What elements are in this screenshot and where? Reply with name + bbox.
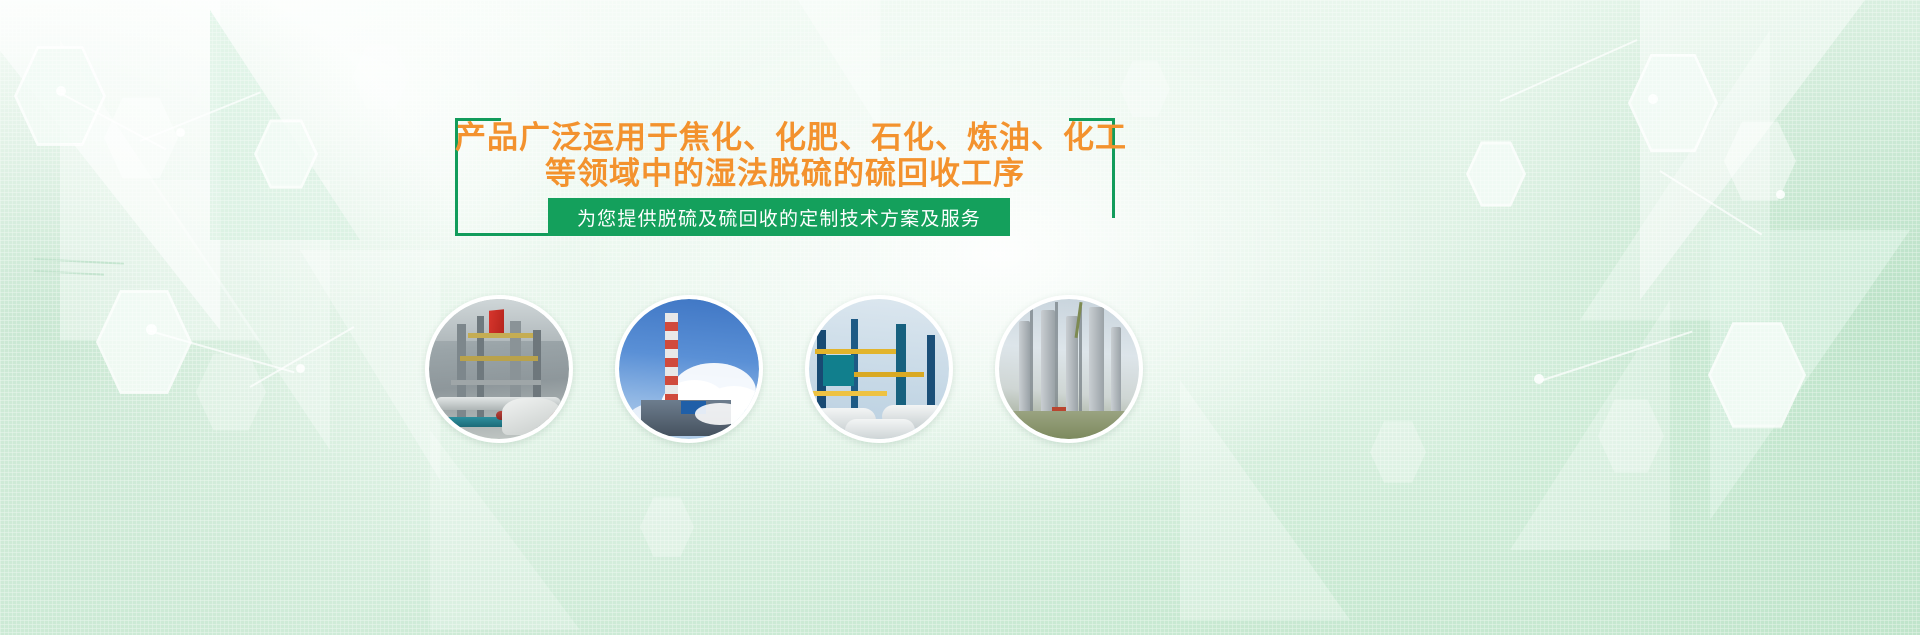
banner-content: 产品广泛运用于焦化、化肥、石化、炼油、化工 等领域中的湿法脱硫的硫回收工序 为您… <box>0 0 1920 635</box>
red-flag-icon <box>489 309 504 335</box>
photo-image-3 <box>809 299 949 439</box>
promo-banner: 产品广泛运用于焦化、化肥、石化、炼油、化工 等领域中的湿法脱硫的硫回收工序 为您… <box>0 0 1920 635</box>
photo-chimney-power-plant-blue-sky <box>615 295 763 443</box>
photo-refinery-distillation-towers <box>995 295 1143 443</box>
photo-desulfurization-pipe-rack-plant <box>425 295 573 443</box>
headline-line-2: 等领域中的湿法脱硫的硫回收工序 <box>455 156 1115 192</box>
subheadline-bar: 为您提供脱硫及硫回收的定制技术方案及服务 <box>548 198 1010 236</box>
bracket-bottom-left <box>455 233 563 236</box>
headline-line-1: 产品广泛运用于焦化、化肥、石化、炼油、化工 <box>455 120 1115 156</box>
photo-sulfur-recovery-tanks-platform <box>805 295 953 443</box>
headline-text: 产品广泛运用于焦化、化肥、石化、炼油、化工 等领域中的湿法脱硫的硫回收工序 <box>455 120 1115 192</box>
photo-image-1 <box>429 299 569 439</box>
subheadline-text: 为您提供脱硫及硫回收的定制技术方案及服务 <box>577 204 981 231</box>
photo-gallery <box>425 295 1165 443</box>
photo-image-2 <box>619 299 759 439</box>
photo-image-4 <box>999 299 1139 439</box>
